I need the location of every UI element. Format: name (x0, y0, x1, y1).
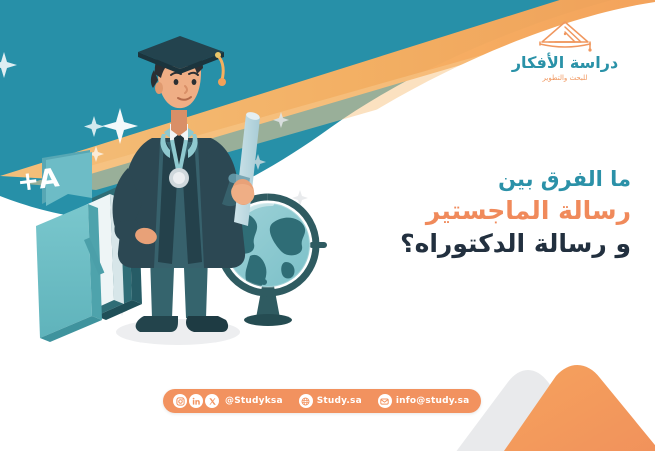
contact-group-social[interactable]: @Studyksa (173, 394, 283, 408)
headline-line-3: و رسالة الدكتوراه؟ (201, 227, 631, 260)
contact-bar: @Studyksa Study.sa info@study.sa (163, 389, 481, 413)
social-handle-label: @Studyksa (225, 396, 283, 406)
instagram-icon[interactable] (173, 394, 187, 408)
contact-group-website[interactable]: Study.sa (299, 394, 362, 408)
x-twitter-icon[interactable] (205, 394, 219, 408)
a-plus-badge: A+ (16, 150, 92, 206)
headline-line-2: رسالة الماجستير (201, 194, 631, 227)
logo[interactable]: دراسة الأفكار للبحث والتطوير (501, 18, 629, 82)
headline-line-1: ما الفرق بين (201, 166, 631, 194)
envelope-icon[interactable] (378, 394, 392, 408)
email-label: info@study.sa (396, 396, 470, 406)
graduation-cap-icon (534, 18, 596, 52)
website-label: Study.sa (317, 396, 362, 406)
a-plus-label: A+ (16, 163, 61, 198)
globe-icon[interactable] (299, 394, 313, 408)
linkedin-icon[interactable] (189, 394, 203, 408)
logo-tagline: للبحث والتطوير (501, 74, 629, 82)
headline: ما الفرق بين رسالة الماجستير و رسالة الد… (201, 166, 631, 260)
contact-group-email[interactable]: info@study.sa (378, 394, 470, 408)
logo-brand-name: دراسة الأفكار (501, 54, 629, 72)
character-shoes (136, 316, 228, 332)
promo-banner: A+ (0, 0, 655, 451)
